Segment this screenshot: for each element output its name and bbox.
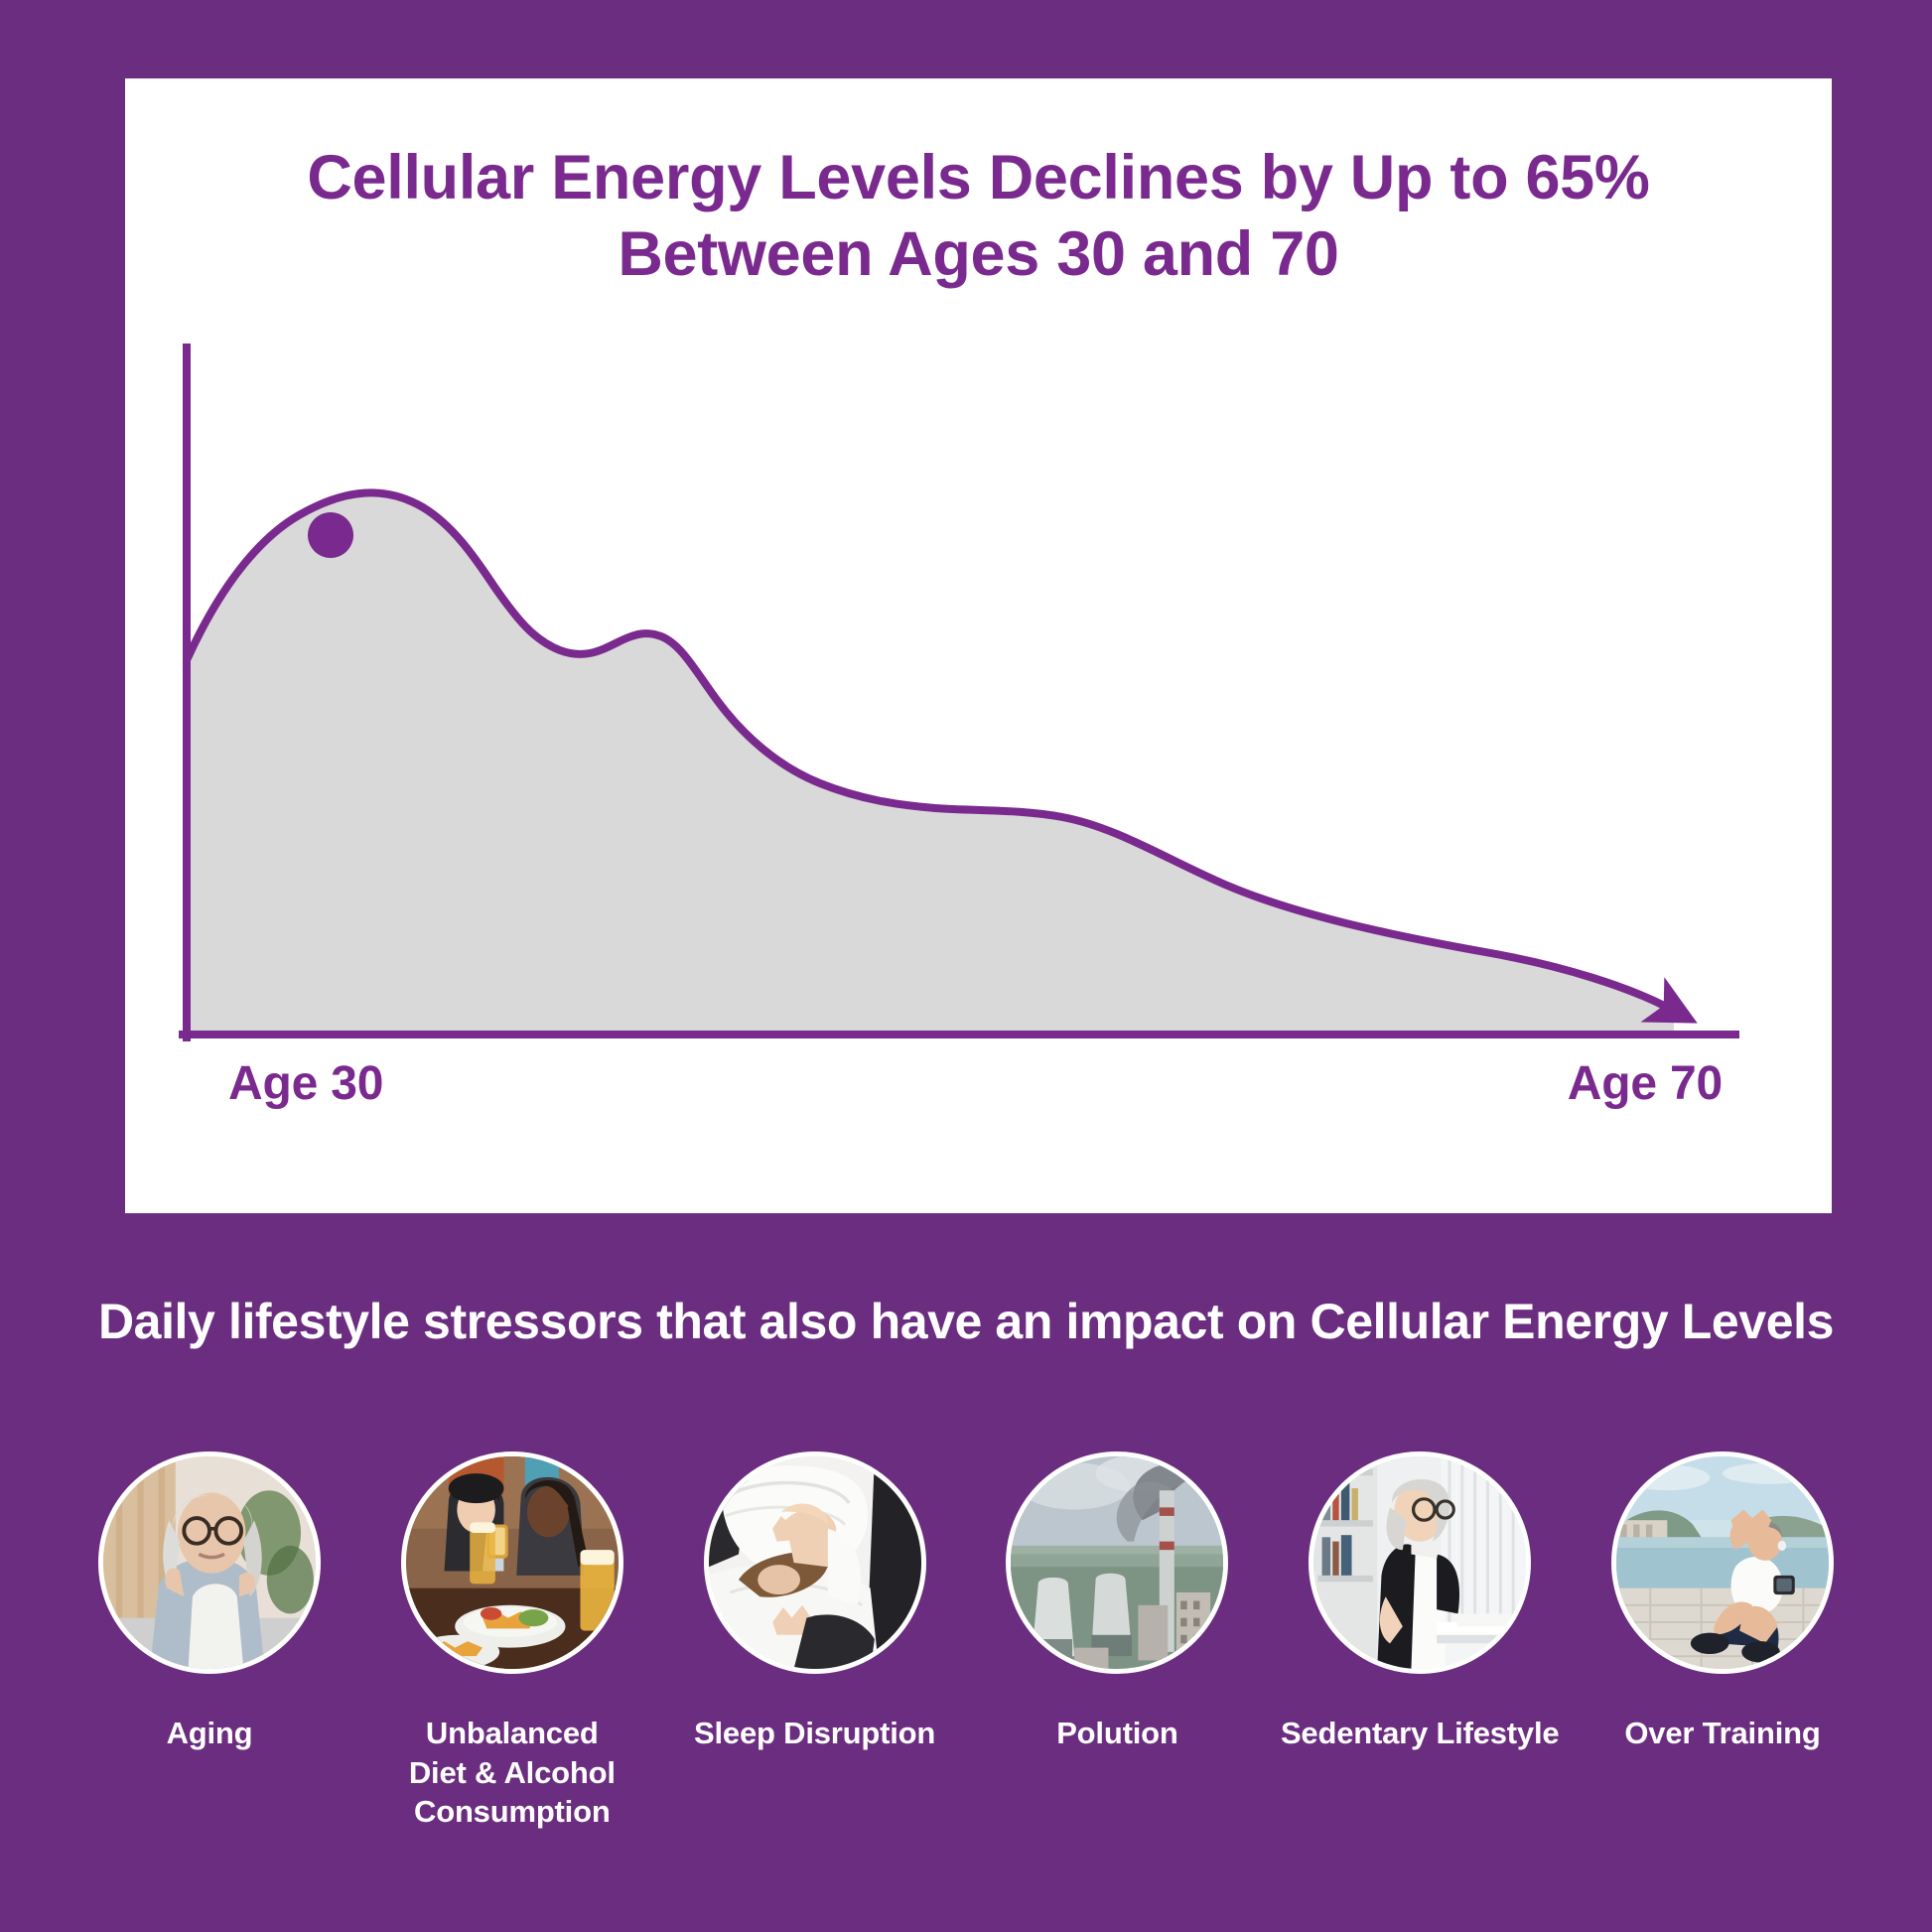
smokestack-cooling-towers-photo <box>1006 1451 1228 1674</box>
cellular-energy-decline-chart <box>125 78 1832 1213</box>
stressor-label: Sedentary Lifestyle <box>1281 1714 1559 1753</box>
stressor-label: Unbalanced Diet & Alcohol Consumption <box>409 1714 616 1832</box>
lifestyle-stressors-row: Aging <box>69 1451 1863 1832</box>
stressor-item-sleep-disruption: Sleep Disruption <box>675 1451 955 1753</box>
friends-dining-beer-photo <box>401 1451 623 1674</box>
woman-sleeping-pillow-photo <box>704 1451 926 1674</box>
stressor-item-aging: Aging <box>69 1451 349 1753</box>
woman-back-pain-office-photo <box>1309 1451 1531 1674</box>
peak-marker-dot <box>308 512 353 558</box>
chart-panel: Cellular Energy Levels Declines by Up to… <box>125 78 1832 1213</box>
chart-area-fill <box>187 492 1674 1035</box>
stressor-label: Polution <box>1056 1714 1177 1753</box>
x-axis-label-age-70: Age 70 <box>1568 1056 1723 1111</box>
older-woman-portrait-photo <box>98 1451 321 1674</box>
x-axis-label-age-30: Age 30 <box>228 1056 383 1111</box>
stressor-item-unbalanced-diet: Unbalanced Diet & Alcohol Consumption <box>372 1451 652 1832</box>
stressor-label: Aging <box>167 1714 253 1753</box>
stressor-label: Over Training <box>1624 1714 1820 1753</box>
lifestyle-section-subtitle: Daily lifestyle stressors that also have… <box>0 1293 1932 1350</box>
stressor-item-polution: Polution <box>977 1451 1257 1753</box>
stressor-label: Sleep Disruption <box>694 1714 935 1753</box>
stressor-item-sedentary-lifestyle: Sedentary Lifestyle <box>1280 1451 1560 1753</box>
man-exhausted-workout-photo <box>1611 1451 1834 1674</box>
stressor-item-over-training: Over Training <box>1583 1451 1863 1753</box>
